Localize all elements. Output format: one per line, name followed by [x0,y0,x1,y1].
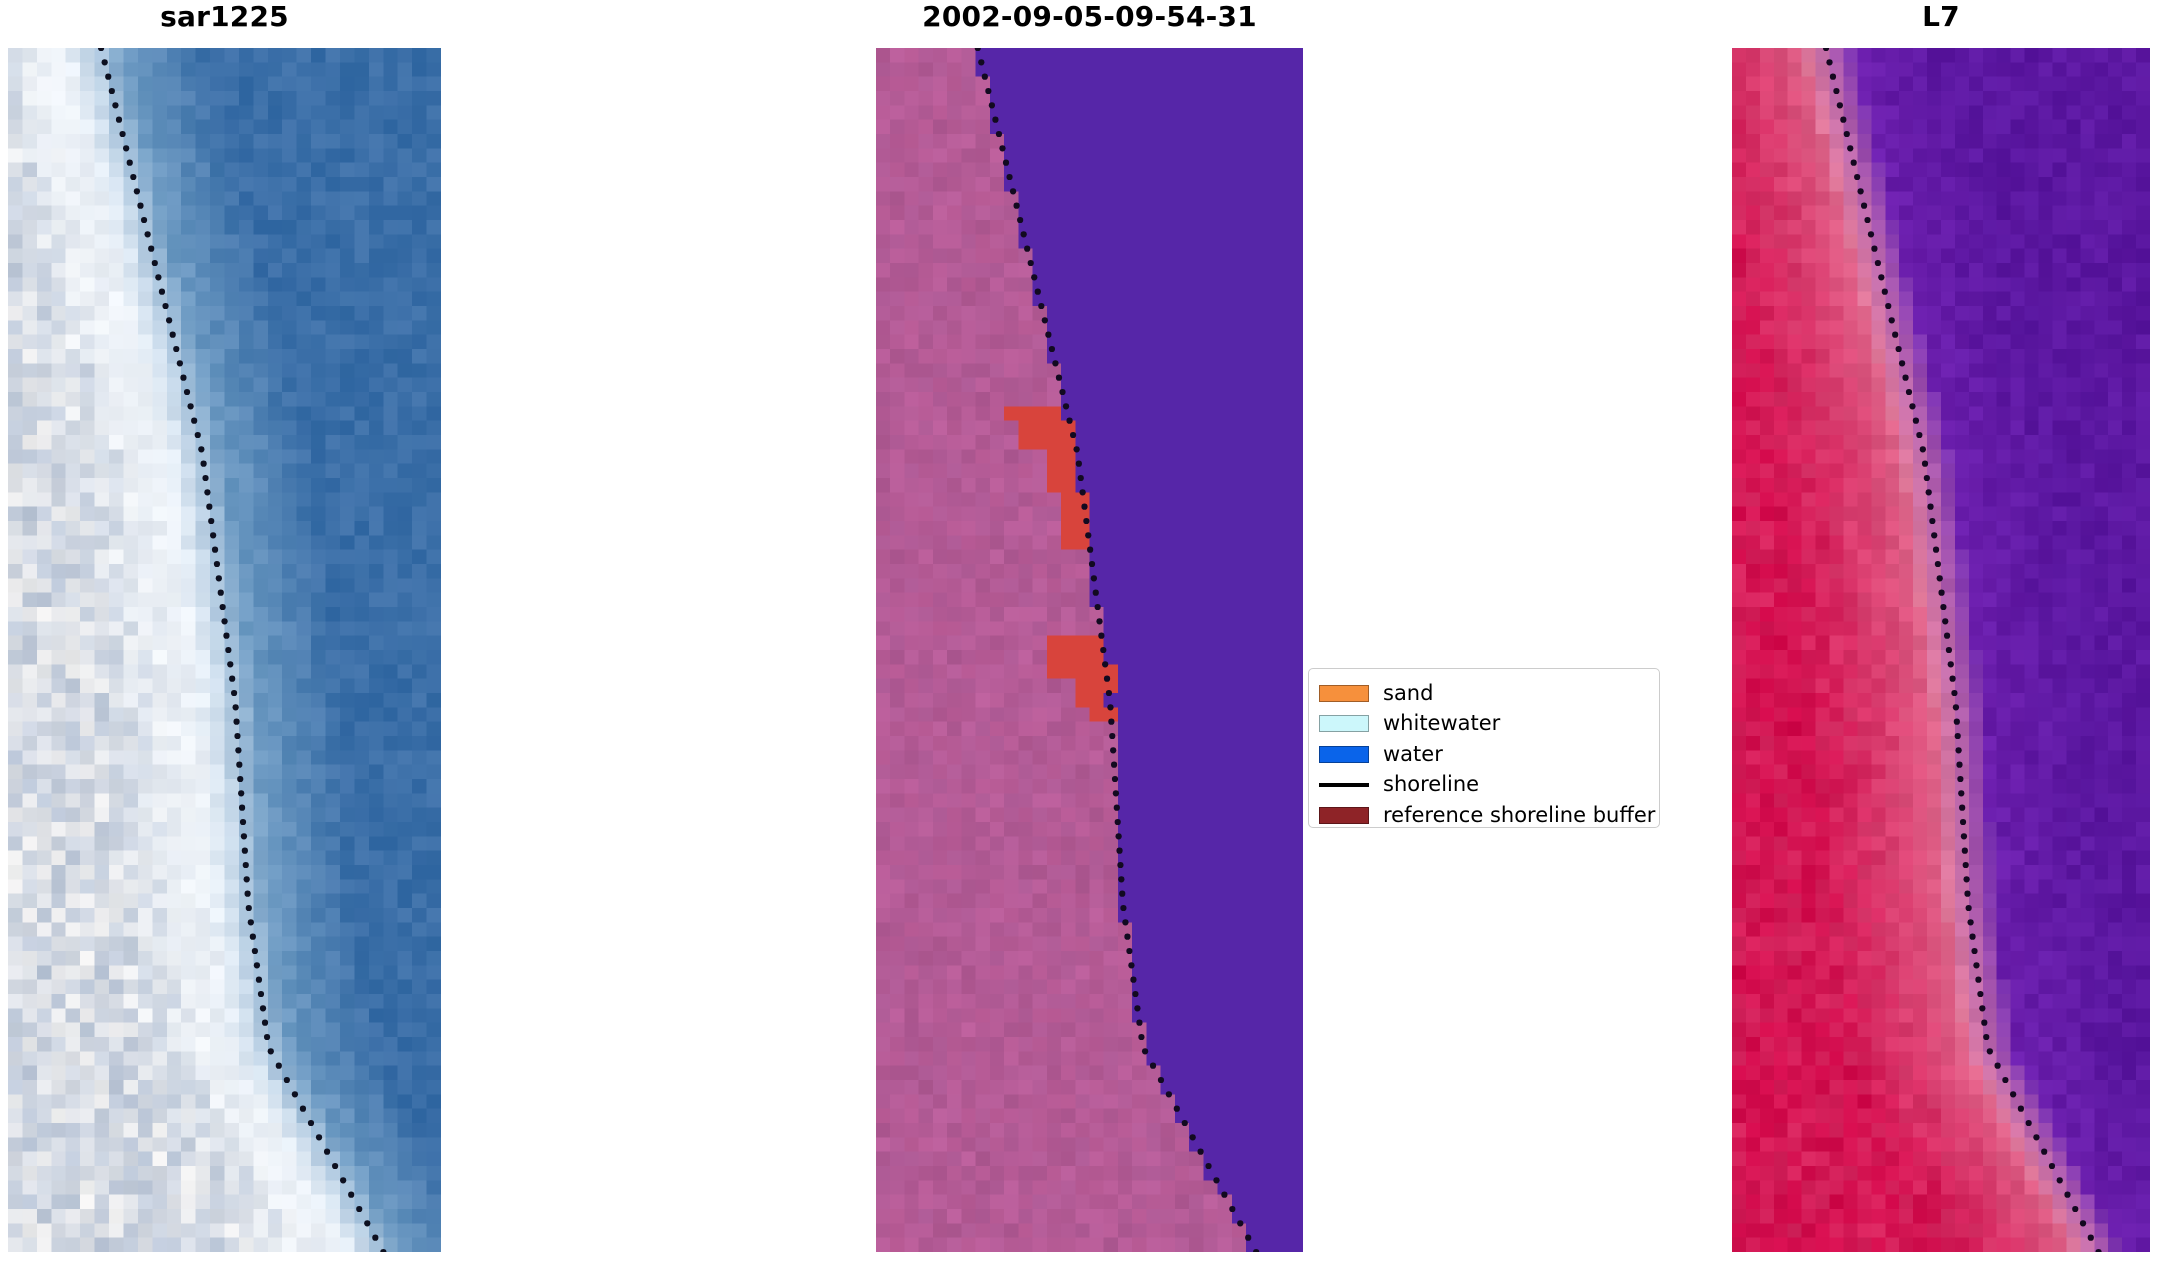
legend-item-whitewater: whitewater [1319,709,1647,740]
legend-label-reference-shoreline-buffer: reference shoreline buffer [1383,805,1655,826]
legend-swatch-water [1319,746,1369,763]
shoreline-dotted-line [876,48,1303,1252]
panel-title-classified: 2002-09-05-09-54-31 [876,0,1303,34]
panel-sar1225: sar1225 [8,0,441,1252]
legend-item-sand: sand [1319,678,1647,709]
legend-label-sand: sand [1383,683,1433,704]
legend-swatch-reference-shoreline-buffer [1319,807,1369,824]
panel-image-sar1225 [8,48,441,1252]
legend-swatch-whitewater [1319,715,1369,732]
panel-image-l7 [1732,48,2150,1252]
shoreline-dotted-line [8,48,441,1252]
panel-title-sar1225: sar1225 [8,0,441,34]
figure-root: sar1225 2002-09-05-09-54-31 L7 sand whit… [0,0,2169,1283]
panel-l7: L7 [1732,0,2150,1252]
panel-title-l7: L7 [1732,0,2150,34]
legend-swatch-shoreline [1319,783,1369,787]
legend-swatch-sand [1319,685,1369,702]
legend-label-shoreline: shoreline [1383,774,1479,795]
legend-item-reference-shoreline-buffer: reference shoreline buffer [1319,800,1647,831]
legend-label-water: water [1383,744,1443,765]
panel-image-classified [876,48,1303,1252]
legend-box: sand whitewater water shoreline referenc… [1308,668,1660,828]
panel-classified: 2002-09-05-09-54-31 [876,0,1303,1252]
legend-item-shoreline: shoreline [1319,770,1647,801]
shoreline-dotted-line [1732,48,2150,1252]
legend-item-water: water [1319,739,1647,770]
legend-label-whitewater: whitewater [1383,713,1500,734]
